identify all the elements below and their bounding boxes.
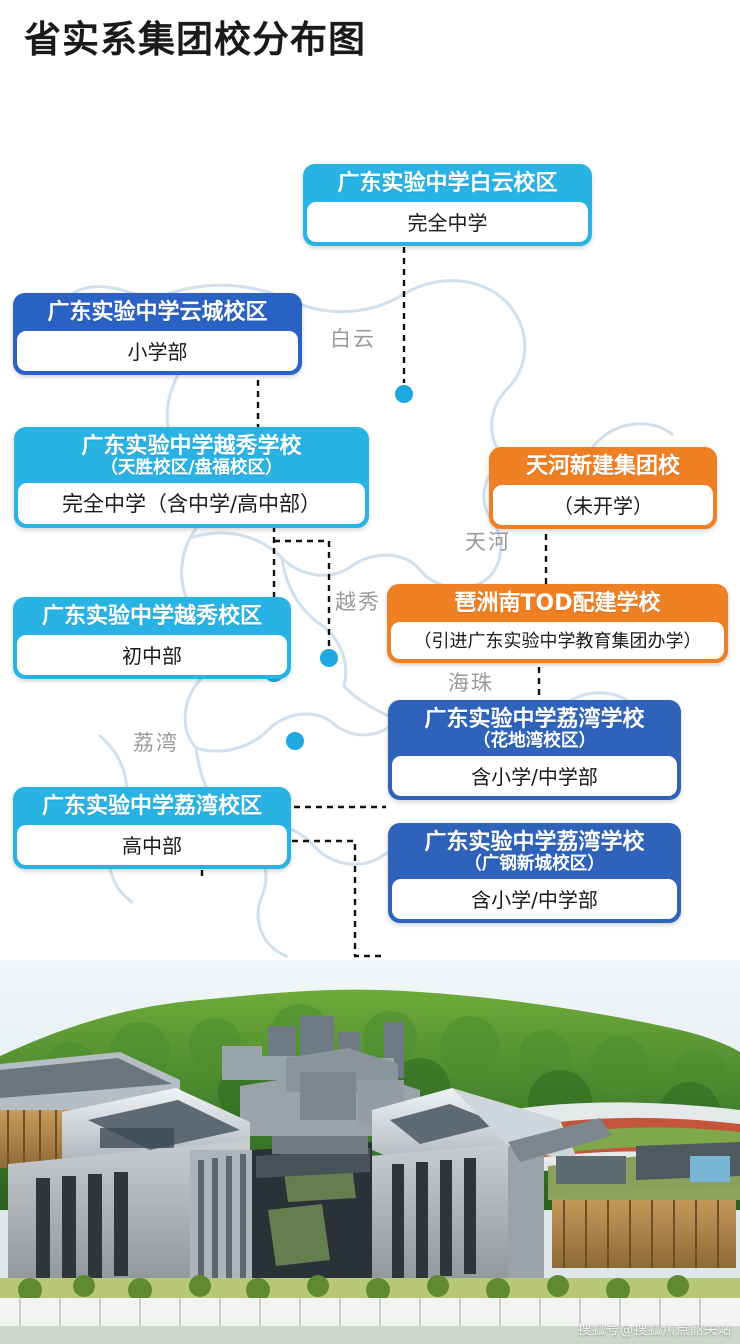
card-yuncheng-campus-body: 小学部 [17, 331, 298, 371]
card-liwan-school-huadiwan-title: 广东实验中学荔湾学校（花地湾校区） [392, 704, 677, 756]
card-tianhe-new-group-school-title-main: 天河新建集团校 [526, 454, 680, 479]
card-baiyun-campus-title-main: 广东实验中学白云校区 [337, 171, 557, 196]
marker-yuexiu-campus[interactable] [286, 732, 304, 750]
card-yuexiu-campus[interactable]: 广东实验中学越秀校区初中部 [13, 597, 291, 679]
card-pazhou-south-tod-school-title: 琶洲南TOD配建学校 [391, 588, 724, 622]
card-liwan-school-guanggang-title: 广东实验中学荔湾学校（广钢新城校区） [392, 827, 677, 879]
card-yuncheng-campus-title: 广东实验中学云城校区 [17, 297, 298, 331]
card-liwan-campus-title: 广东实验中学荔湾校区 [17, 791, 287, 825]
card-pazhou-south-tod-school-body: （引进广东实验中学教育集团办学） [391, 622, 724, 659]
marker-yuexiu-panfu[interactable] [320, 649, 338, 667]
district-label-3: 海珠 [448, 667, 494, 697]
card-baiyun-campus[interactable]: 广东实验中学白云校区完全中学 [303, 164, 592, 246]
card-liwan-school-guanggang[interactable]: 广东实验中学荔湾学校（广钢新城校区）含小学/中学部 [388, 823, 681, 923]
card-liwan-school-huadiwan-body: 含小学/中学部 [392, 756, 677, 796]
card-yuncheng-campus-title-main: 广东实验中学云城校区 [47, 300, 267, 325]
campus-photo-illustration [0, 960, 740, 1344]
page-title: 省实系集团校分布图 [24, 18, 366, 62]
campus-photo: 搜狐号@搜狐焦点韶关站 [0, 960, 740, 1344]
card-yuexiu-school-title: 广东实验中学越秀学校（天胜校区/盘福校区） [18, 431, 365, 483]
card-yuexiu-campus-body: 初中部 [17, 635, 287, 675]
card-liwan-campus[interactable]: 广东实验中学荔湾校区高中部 [13, 787, 291, 869]
district-label-2: 越秀 [335, 586, 381, 616]
card-baiyun-campus-body: 完全中学 [307, 202, 588, 242]
card-liwan-school-huadiwan-title-sub: （花地湾校区） [400, 732, 669, 752]
card-pazhou-south-tod-school[interactable]: 琶洲南TOD配建学校（引进广东实验中学教育集团办学） [387, 584, 728, 663]
infographic-page: 省实系集团校分布图 [0, 0, 740, 1344]
card-liwan-campus-title-main: 广东实验中学荔湾校区 [42, 794, 262, 819]
marker-baiyun[interactable] [395, 385, 413, 403]
card-yuexiu-campus-title: 广东实验中学越秀校区 [17, 601, 287, 635]
card-liwan-school-huadiwan[interactable]: 广东实验中学荔湾学校（花地湾校区）含小学/中学部 [388, 700, 681, 800]
card-yuexiu-school-title-sub: （天胜校区/盘福校区） [26, 459, 357, 479]
card-yuexiu-school[interactable]: 广东实验中学越秀学校（天胜校区/盘福校区）完全中学（含中学/高中部） [14, 427, 369, 528]
card-tianhe-new-group-school[interactable]: 天河新建集团校（未开学） [489, 447, 717, 529]
card-pazhou-south-tod-school-title-main: 琶洲南TOD配建学校 [455, 591, 661, 616]
card-tianhe-new-group-school-body: （未开学） [493, 485, 713, 525]
district-label-0: 白云 [330, 323, 376, 353]
district-label-1: 天河 [465, 526, 511, 556]
card-yuexiu-campus-title-main: 广东实验中学越秀校区 [42, 604, 262, 629]
card-baiyun-campus-title: 广东实验中学白云校区 [307, 168, 588, 202]
district-label-4: 荔湾 [133, 727, 179, 757]
card-liwan-school-guanggang-body: 含小学/中学部 [392, 879, 677, 919]
card-liwan-school-guanggang-title-main: 广东实验中学荔湾学校 [424, 830, 644, 855]
map-area: 白云天河越秀海珠荔湾 广东实验中学白云校区完全中学广东实验中学云城校区小学部广东… [0, 96, 740, 960]
watermark: 搜狐号@搜狐焦点韶关站 [578, 1319, 732, 1338]
card-yuexiu-school-body: 完全中学（含中学/高中部） [18, 483, 365, 524]
card-yuncheng-campus[interactable]: 广东实验中学云城校区小学部 [13, 293, 302, 375]
card-yuexiu-school-title-main: 广东实验中学越秀学校 [81, 434, 301, 459]
card-liwan-school-guanggang-title-sub: （广钢新城校区） [400, 855, 669, 875]
card-liwan-campus-body: 高中部 [17, 825, 287, 865]
card-tianhe-new-group-school-title: 天河新建集团校 [493, 451, 713, 485]
card-liwan-school-huadiwan-title-main: 广东实验中学荔湾学校 [424, 707, 644, 732]
